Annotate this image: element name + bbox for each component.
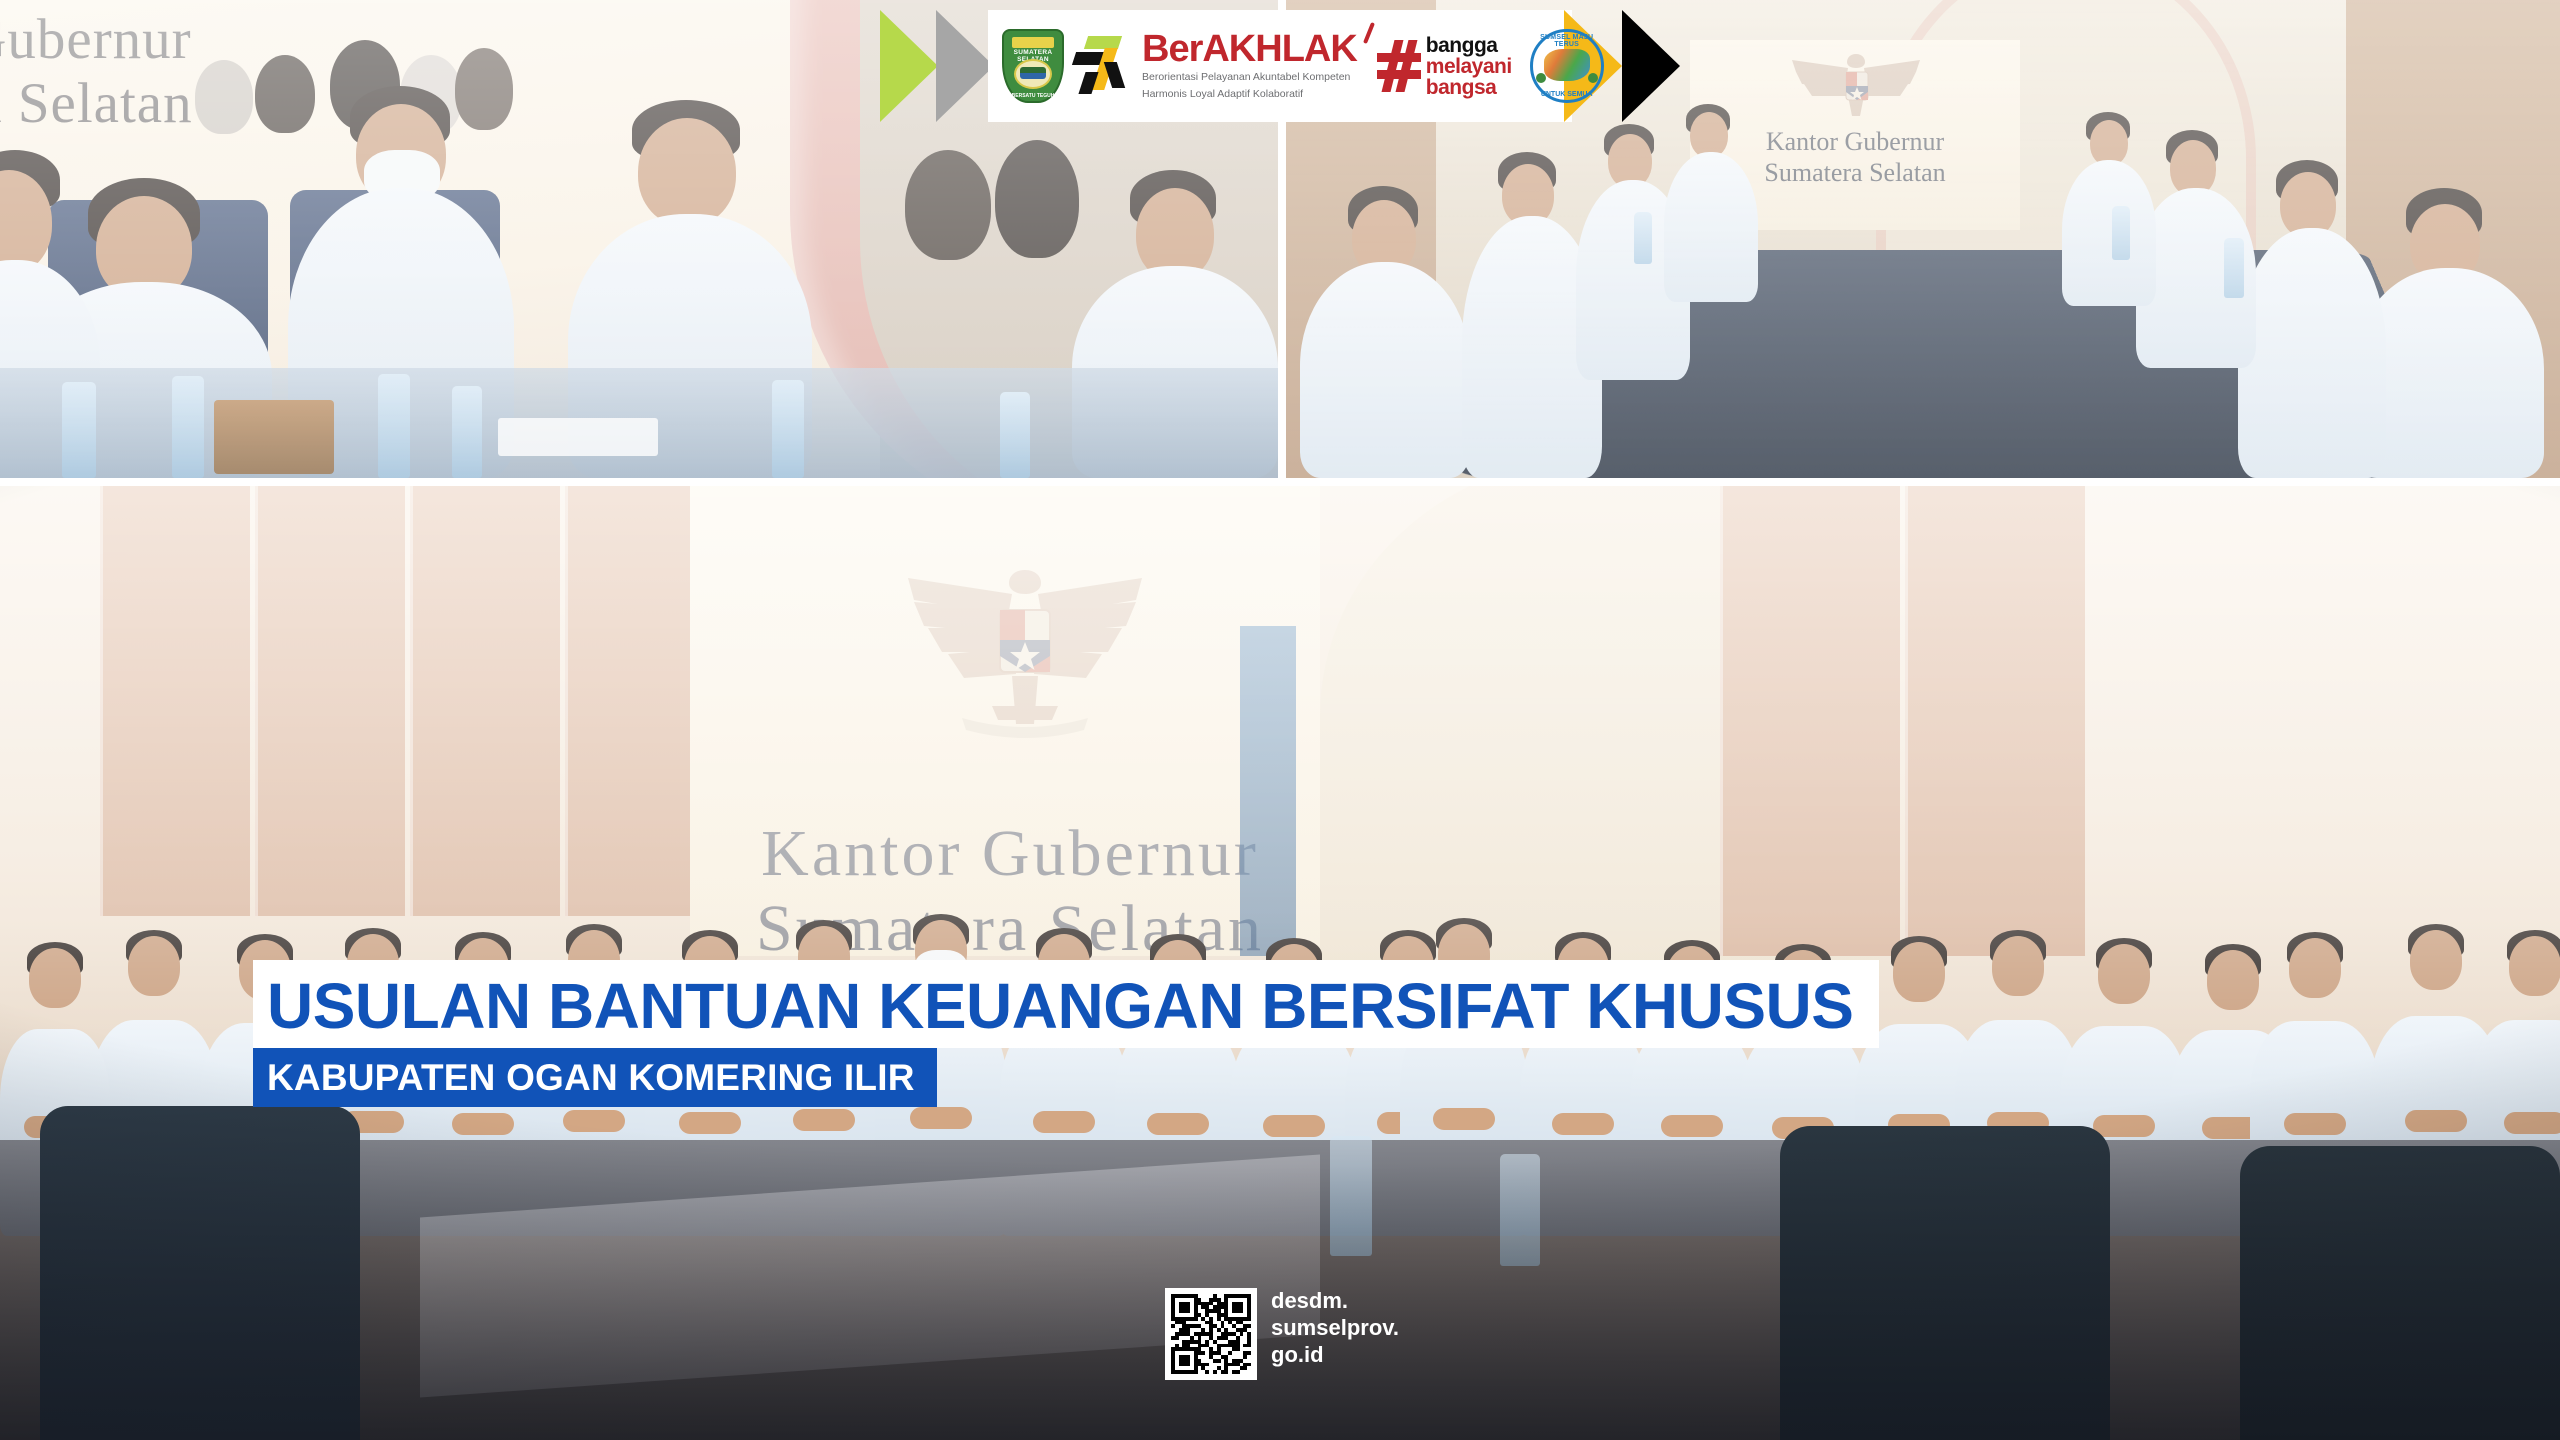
chevron-gray-icon	[936, 10, 994, 122]
main-bottle-2	[1500, 1154, 1540, 1266]
berakhlak-tagline-line2: Harmonis Loyal Adaptif Kolaboratif	[1142, 88, 1357, 102]
url-line1: desdm.	[1271, 1288, 1399, 1315]
berakhlak-wordmark: BerAKHLAK	[1142, 30, 1357, 68]
url-line2: sumselprov.	[1271, 1315, 1399, 1342]
website-url: desdm. sumselprov. go.id	[1271, 1288, 1399, 1368]
main-chair-2	[1780, 1126, 2110, 1440]
berakhlak-text-block: BerAKHLAK Berorientasi Pelayanan Akuntab…	[1142, 30, 1357, 102]
bangga-text-block: bangga melayani bangsa	[1426, 35, 1512, 98]
hashtag-icon	[1377, 40, 1421, 92]
title-main-banner: USULAN BANTUAN KEUANGAN BERSIFAT KHUSUS	[253, 960, 1879, 1048]
qr-footer: desdm. sumselprov. go.id	[1165, 1288, 1399, 1380]
poster-canvas: r Gubernur era Selatan	[0, 0, 2560, 1440]
sumsel-maju-terus-badge-icon: SUMSEL MAJU TERUS UNTUK SEMUA	[1530, 29, 1604, 103]
smt-arc-bottom: UNTUK SEMUA	[1530, 91, 1604, 98]
chevron-black-icon	[1622, 10, 1680, 122]
chevron-lime-icon	[880, 10, 938, 122]
logo-banner: SUMATERA SELATAN BERSATU TEGUH BerAKHLAK…	[880, 10, 1680, 122]
title-sub-banner: KABUPATEN OGAN KOMERING ILIR	[253, 1048, 937, 1107]
berakhlak-tick-icon	[1363, 22, 1375, 44]
title-block: USULAN BANTUAN KEUANGAN BERSIFAT KHUSUS …	[253, 960, 2560, 1107]
sumatera-selatan-shield-icon: SUMATERA SELATAN BERSATU TEGUH	[1002, 29, 1064, 103]
main-bottle-1	[1330, 1136, 1372, 1256]
panel-divider-horizontal	[0, 478, 2560, 486]
qr-code-icon[interactable]	[1165, 1288, 1257, 1380]
main-chair-3	[2240, 1146, 2560, 1440]
logo-row: SUMATERA SELATAN BERSATU TEGUH BerAKHLAK…	[992, 10, 1572, 122]
bangga-line1: bangga	[1426, 35, 1512, 56]
berakhlak-wordmark-text: BerAKHLAK	[1142, 28, 1357, 70]
bangga-line3: bangsa	[1426, 77, 1512, 98]
bangga-line2: melayani	[1426, 56, 1512, 77]
shield-bottom-label: BERSATU TEGUH	[1002, 93, 1064, 99]
bangga-melayani-bangsa-logo: bangga melayani bangsa	[1377, 35, 1512, 98]
url-line3: go.id	[1271, 1342, 1399, 1369]
page-subtitle: KABUPATEN OGAN KOMERING ILIR	[267, 1059, 915, 1096]
smt-arc-top: SUMSEL MAJU TERUS	[1530, 34, 1604, 48]
page-title: USULAN BANTUAN KEUANGAN BERSIFAT KHUSUS	[267, 974, 1853, 1038]
main-chair-1	[40, 1106, 360, 1440]
berakhlak-tagline-line1: Berorientasi Pelayanan Akuntabel Kompete…	[1142, 71, 1357, 85]
berakhlak-mark-icon	[1072, 32, 1132, 100]
